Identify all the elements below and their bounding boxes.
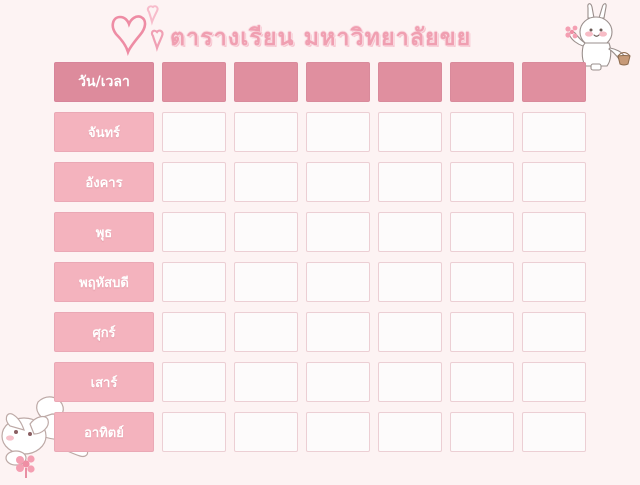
timetable-period-header-1[interactable] [162, 62, 226, 102]
slot-tuesday-4[interactable] [378, 162, 442, 202]
day-label-wednesday[interactable]: พุธ [54, 212, 154, 252]
slot-tuesday-2[interactable] [234, 162, 298, 202]
slot-sunday-3[interactable] [306, 412, 370, 452]
page-title: ตารางเรียน มหาวิทยาลัยขย [170, 18, 500, 58]
timetable-header-row: วัน/เวลา [50, 59, 590, 109]
day-label-thursday[interactable]: พฤหัสบดี [54, 262, 154, 302]
table-row: จันทร์ [50, 109, 590, 159]
heart-outline-icon [106, 4, 176, 60]
slot-friday-2[interactable] [234, 312, 298, 352]
day-label-tuesday-text: อังคาร [85, 172, 122, 193]
timetable-period-header-5[interactable] [450, 62, 514, 102]
slot-saturday-2[interactable] [234, 362, 298, 402]
timetable-header-corner[interactable]: วัน/เวลา [54, 62, 154, 102]
slot-saturday-4[interactable] [378, 362, 442, 402]
day-label-sunday-text: อาทิตย์ [84, 422, 124, 443]
day-label-wednesday-text: พุธ [96, 222, 113, 243]
timetable-period-header-4[interactable] [378, 62, 442, 102]
slot-friday-6[interactable] [522, 312, 586, 352]
slot-sunday-6[interactable] [522, 412, 586, 452]
slot-wednesday-3[interactable] [306, 212, 370, 252]
slot-tuesday-6[interactable] [522, 162, 586, 202]
slot-monday-1[interactable] [162, 112, 226, 152]
slot-wednesday-4[interactable] [378, 212, 442, 252]
timetable-period-header-3[interactable] [306, 62, 370, 102]
slot-tuesday-1[interactable] [162, 162, 226, 202]
slot-tuesday-3[interactable] [306, 162, 370, 202]
slot-monday-4[interactable] [378, 112, 442, 152]
slot-thursday-4[interactable] [378, 262, 442, 302]
slot-monday-2[interactable] [234, 112, 298, 152]
timetable-period-header-6[interactable] [522, 62, 586, 102]
day-label-saturday-text: เสาร์ [91, 372, 118, 393]
table-row: พุธ [50, 209, 590, 259]
day-label-thursday-text: พฤหัสบดี [79, 272, 129, 293]
page-title-text: ตารางเรียน มหาวิทยาลัยขย [170, 20, 471, 56]
slot-thursday-1[interactable] [162, 262, 226, 302]
slot-monday-6[interactable] [522, 112, 586, 152]
slot-monday-3[interactable] [306, 112, 370, 152]
day-label-friday-text: ศุกร์ [92, 322, 115, 343]
slot-friday-3[interactable] [306, 312, 370, 352]
slot-sunday-4[interactable] [378, 412, 442, 452]
table-row: ศุกร์ [50, 309, 590, 359]
slot-thursday-3[interactable] [306, 262, 370, 302]
slot-monday-5[interactable] [450, 112, 514, 152]
slot-thursday-5[interactable] [450, 262, 514, 302]
slot-wednesday-1[interactable] [162, 212, 226, 252]
slot-wednesday-6[interactable] [522, 212, 586, 252]
table-row: อังคาร [50, 159, 590, 209]
slot-sunday-1[interactable] [162, 412, 226, 452]
slot-saturday-3[interactable] [306, 362, 370, 402]
slot-wednesday-5[interactable] [450, 212, 514, 252]
table-row: เสาร์ [50, 359, 590, 409]
day-label-saturday[interactable]: เสาร์ [54, 362, 154, 402]
slot-sunday-5[interactable] [450, 412, 514, 452]
hearts-doodle [106, 4, 176, 60]
slot-friday-4[interactable] [378, 312, 442, 352]
slot-saturday-5[interactable] [450, 362, 514, 402]
table-row: พฤหัสบดี [50, 259, 590, 309]
slot-thursday-2[interactable] [234, 262, 298, 302]
day-label-tuesday[interactable]: อังคาร [54, 162, 154, 202]
day-label-monday-text: จันทร์ [88, 122, 120, 143]
timetable-header-corner-label: วัน/เวลา [78, 71, 130, 93]
slot-wednesday-2[interactable] [234, 212, 298, 252]
slot-sunday-2[interactable] [234, 412, 298, 452]
slot-saturday-1[interactable] [162, 362, 226, 402]
slot-saturday-6[interactable] [522, 362, 586, 402]
table-row: อาทิตย์ [50, 409, 590, 459]
day-label-sunday[interactable]: อาทิตย์ [54, 412, 154, 452]
day-label-monday[interactable]: จันทร์ [54, 112, 154, 152]
day-label-friday[interactable]: ศุกร์ [54, 312, 154, 352]
timetable: วัน/เวลา จันทร์ อังคาร พุธ [50, 59, 590, 459]
timetable-period-header-2[interactable] [234, 62, 298, 102]
slot-friday-1[interactable] [162, 312, 226, 352]
slot-thursday-6[interactable] [522, 262, 586, 302]
slot-friday-5[interactable] [450, 312, 514, 352]
slot-tuesday-5[interactable] [450, 162, 514, 202]
